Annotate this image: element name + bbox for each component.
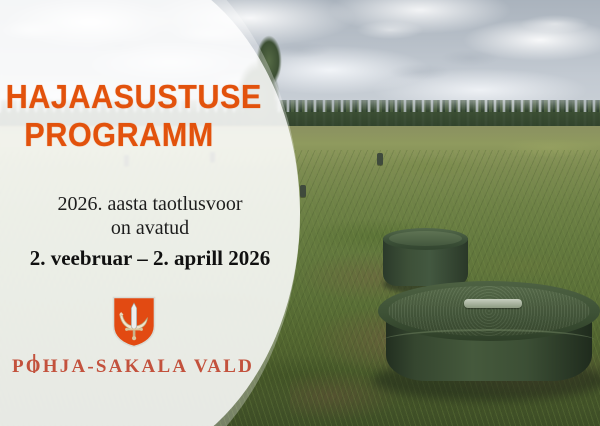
tank-handle — [464, 299, 522, 308]
logo-text-after: HJA-SAKALA VALD — [43, 356, 254, 377]
tank-lid-top — [389, 231, 462, 246]
headline-line-1: HAJAASUSTUSE — [0, 78, 233, 116]
logo-text-before: P — [12, 356, 26, 377]
tank-rim — [382, 329, 596, 353]
field-post — [300, 185, 306, 197]
municipality-crest — [112, 296, 156, 348]
application-period-dates: 2. veebruar – 2. aprill 2026 — [0, 245, 300, 271]
poster-body-text: 2026. aasta taotlusvoor on avatud 2. vee… — [0, 192, 300, 271]
coat-of-arms-icon — [112, 296, 156, 348]
logo-text-o-tilde: O — [26, 356, 43, 378]
septic-tank-large — [378, 281, 600, 399]
field-post — [377, 153, 383, 165]
content-column: HAJAASUSTUSE PROGRAMM 2026. aasta taotlu… — [0, 0, 300, 426]
body-line-1: 2026. aasta taotlusvoor — [0, 192, 300, 216]
municipality-name: POHJA-SAKALA VALD — [0, 356, 266, 378]
body-line-2: on avatud — [0, 216, 300, 240]
headline-line-2: PROGRAMM — [0, 116, 233, 154]
poster-headline: HAJAASUSTUSE PROGRAMM — [0, 78, 233, 154]
poster-canvas: HAJAASUSTUSE PROGRAMM 2026. aasta taotlu… — [0, 0, 600, 426]
